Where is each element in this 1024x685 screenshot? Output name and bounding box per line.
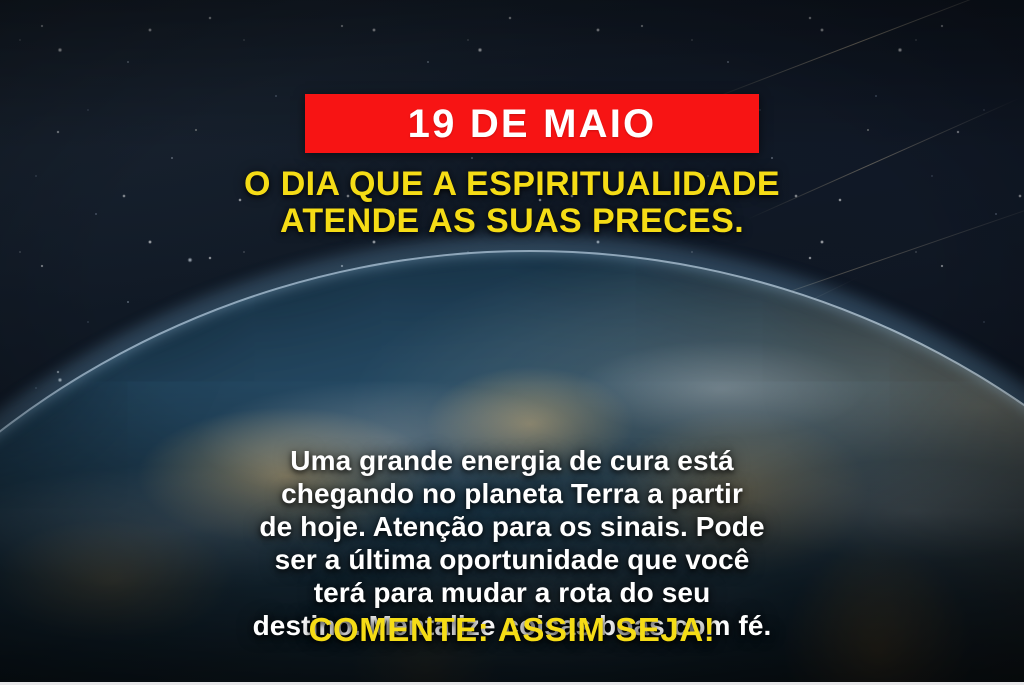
call-to-action-text: COMENTE: ASSIM SEJA! [0, 612, 1024, 648]
body-line-2: chegando no planeta Terra a partir [62, 477, 962, 510]
headline-line-1: O DIA QUE A ESPIRITUALIDADE [0, 166, 1024, 203]
date-banner: 19 DE MAIO [305, 94, 759, 153]
poster-canvas: 19 DE MAIO O DIA QUE A ESPIRITUALIDADE A… [0, 0, 1024, 685]
body-line-4: ser a última oportunidade que você [62, 543, 962, 576]
headline: O DIA QUE A ESPIRITUALIDADE ATENDE AS SU… [0, 166, 1024, 239]
poster-content: 19 DE MAIO O DIA QUE A ESPIRITUALIDADE A… [0, 0, 1024, 685]
body-line-5: terá para mudar a rota do seu [62, 576, 962, 609]
body-line-3: de hoje. Atenção para os sinais. Pode [62, 510, 962, 543]
body-line-1: Uma grande energia de cura está [62, 444, 962, 477]
date-banner-label: 19 DE MAIO [408, 104, 657, 144]
headline-line-2: ATENDE AS SUAS PRECES. [0, 203, 1024, 240]
